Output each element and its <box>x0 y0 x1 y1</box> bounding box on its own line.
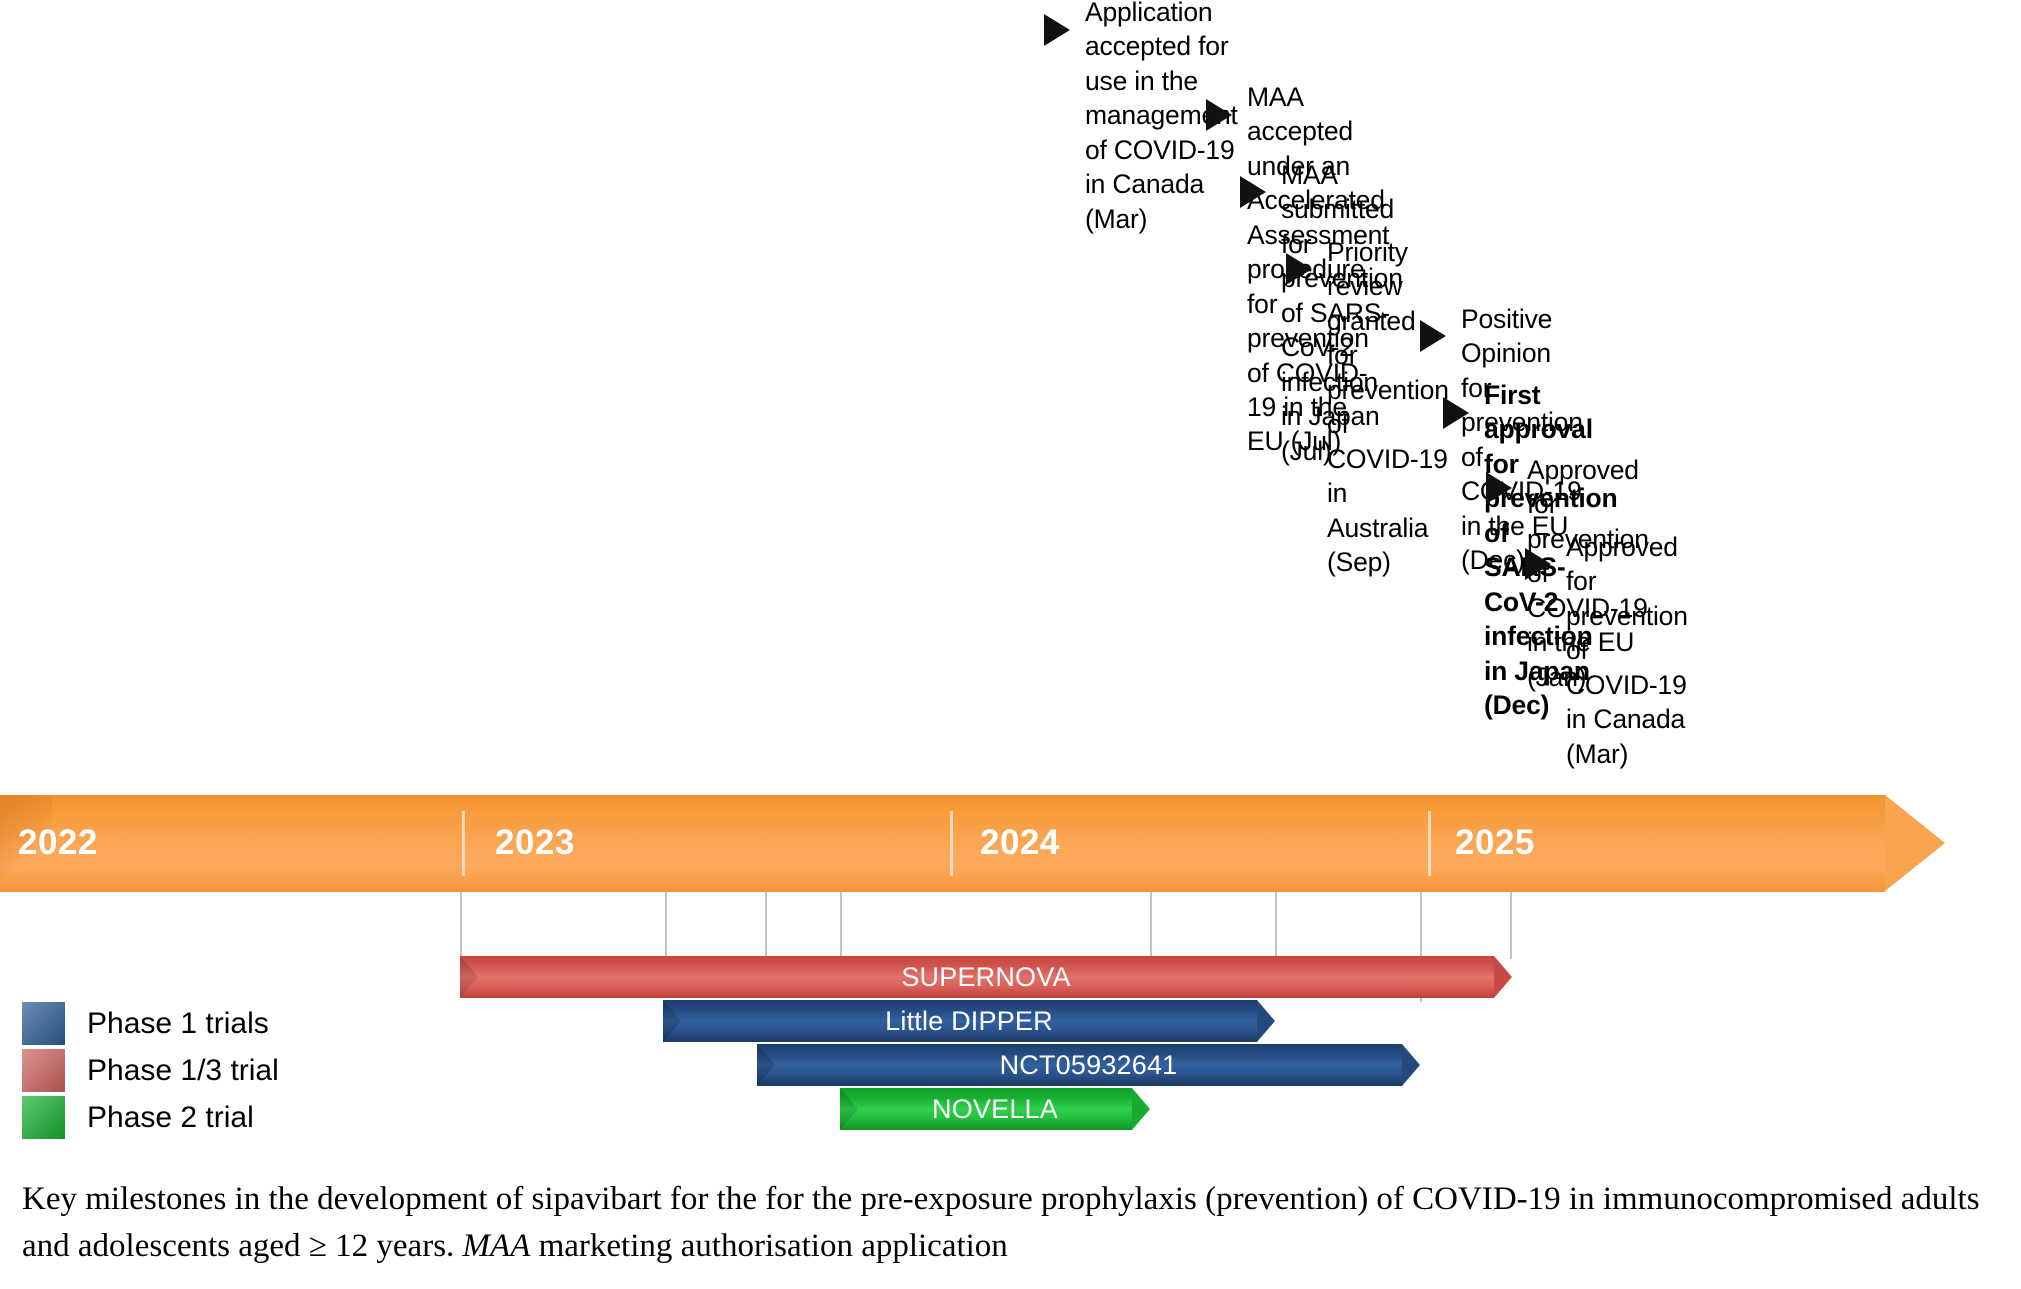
arrow-marker-icon <box>1443 397 1469 429</box>
timeline-axis-bar <box>0 795 1885 892</box>
grid-tick <box>840 892 842 959</box>
milestone-callouts: Application accepted for use in the mana… <box>0 0 2021 800</box>
year-label-2024: 2024 <box>980 823 1060 863</box>
trial-bar-label: Little DIPPER <box>663 1000 1275 1042</box>
trial-bar-supernova[interactable]: SUPERNOVA <box>460 956 1512 998</box>
legend-item-phase-2: Phase 2 trial <box>22 1094 279 1141</box>
arrow-marker-icon <box>1286 253 1312 285</box>
grid-tick <box>765 892 767 959</box>
arrow-marker-icon <box>1525 548 1551 580</box>
milestone-label: Priority review granted for prevention o… <box>1327 235 1449 579</box>
legend-item-phase-1: Phase 1 trials <box>22 1000 279 1047</box>
trial-bar-label: NOVELLA <box>840 1088 1150 1130</box>
year-divider <box>462 811 465 876</box>
grid-tick <box>460 892 462 959</box>
legend-swatch-green <box>22 1096 65 1139</box>
legend-label: Phase 2 trial <box>87 1101 254 1135</box>
arrow-marker-icon <box>1240 176 1266 208</box>
grid-tick <box>1275 892 1277 959</box>
year-label-2022: 2022 <box>18 823 98 863</box>
trial-bar-label: NCT05932641 <box>757 1044 1420 1086</box>
legend-swatch-blue <box>22 1002 65 1045</box>
arrow-marker-icon <box>1486 472 1512 504</box>
grid-tick <box>1150 892 1152 959</box>
grid-tick <box>1510 892 1512 959</box>
caption-abbreviation: MAA <box>463 1228 531 1264</box>
legend-swatch-red <box>22 1049 65 1092</box>
legend-item-phase-1-3: Phase 1/3 trial <box>22 1047 279 1094</box>
milestone-label: Approved for prevention of COVID-19 in C… <box>1566 530 1688 771</box>
trial-bar-novella[interactable]: NOVELLA <box>840 1088 1150 1130</box>
year-label-2025: 2025 <box>1455 823 1535 863</box>
figure-caption: Key milestones in the development of sip… <box>22 1176 1997 1270</box>
trial-bar-little-dipper[interactable]: Little DIPPER <box>663 1000 1275 1042</box>
arrow-marker-icon <box>1420 320 1446 352</box>
legend-label: Phase 1 trials <box>87 1007 269 1041</box>
legend: Phase 1 trials Phase 1/3 trial Phase 2 t… <box>22 1000 279 1141</box>
timeline-axis: 2022 2023 2024 2025 <box>0 795 1945 892</box>
grid-tick <box>665 892 667 959</box>
legend-label: Phase 1/3 trial <box>87 1054 279 1088</box>
arrow-marker-icon <box>1044 14 1070 46</box>
caption-part-2: marketing authorisation application <box>530 1228 1007 1264</box>
arrow-marker-icon <box>1206 99 1232 131</box>
year-label-2023: 2023 <box>495 823 575 863</box>
year-divider <box>1428 811 1431 876</box>
trial-bar-nct05932641[interactable]: NCT05932641 <box>757 1044 1420 1086</box>
year-divider <box>950 811 953 876</box>
trial-bar-label: SUPERNOVA <box>460 956 1512 998</box>
timeline-axis-arrowhead <box>1885 795 1945 891</box>
